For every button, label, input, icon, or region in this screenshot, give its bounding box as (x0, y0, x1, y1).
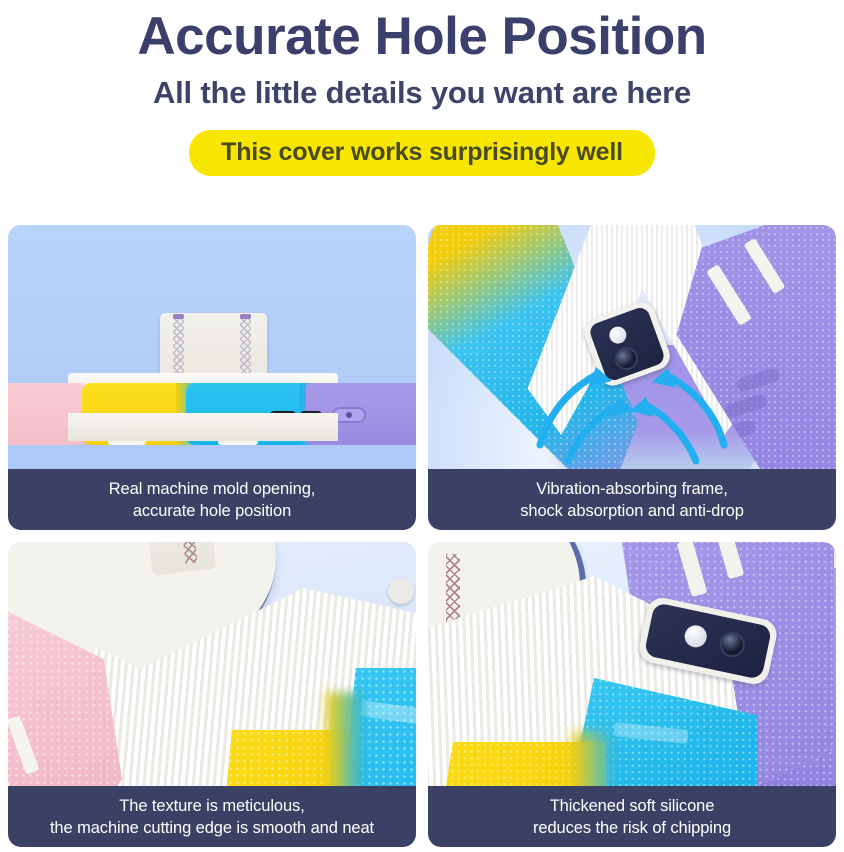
card-caption: Thickened soft silicone reduces the risk… (428, 786, 836, 847)
caption-line-1: Vibration-absorbing frame, (536, 478, 728, 500)
camera-lens-icon (717, 630, 747, 660)
card-caption: Real machine mold opening, accurate hole… (8, 469, 416, 530)
caption-line-2: accurate hole position (133, 500, 291, 522)
infographic-page: Accurate Hole Position All the little de… (0, 0, 844, 852)
caption-line-2: shock absorption and anti-drop (520, 500, 744, 522)
caption-line-2: the machine cutting edge is smooth and n… (50, 817, 374, 839)
page-title: Accurate Hole Position (0, 6, 844, 68)
feature-card-soft-silicone: Thickened soft silicone reduces the risk… (428, 542, 836, 847)
camera-flash-icon (683, 623, 709, 649)
header: Accurate Hole Position All the little de… (0, 0, 844, 176)
card-caption: Vibration-absorbing frame, shock absorpt… (428, 469, 836, 530)
card-caption: The texture is meticulous, the machine c… (8, 786, 416, 847)
page-subtitle: All the little details you want are here (0, 72, 844, 114)
stitch-pattern-icon (178, 542, 197, 564)
hinge-cap (173, 314, 184, 319)
highlight-badge: This cover works surprisingly well (189, 130, 655, 176)
feature-card-vibration-absorbing: Vibration-absorbing frame, shock absorpt… (428, 225, 836, 530)
badge-row: This cover works surprisingly well (0, 130, 844, 176)
stitch-pattern-icon (240, 317, 251, 375)
hinge-cap (240, 314, 251, 319)
stitch-pattern-icon (173, 317, 184, 375)
caption-line-1: Real machine mold opening, (109, 478, 316, 500)
corner-knob (388, 578, 414, 604)
kickstand (160, 313, 267, 381)
feature-card-hole-position: Real machine mold opening, accurate hole… (8, 225, 416, 530)
caption-line-1: The texture is meticulous, (119, 795, 304, 817)
feature-card-texture-detail: The texture is meticulous, the machine c… (8, 542, 416, 847)
caption-line-2: reduces the risk of chipping (533, 817, 731, 839)
case-under-plate (68, 413, 338, 441)
caption-line-1: Thickened soft silicone (550, 795, 715, 817)
stitch-pattern-icon (446, 554, 460, 622)
feature-grid: Real machine mold opening, accurate hole… (8, 225, 836, 847)
